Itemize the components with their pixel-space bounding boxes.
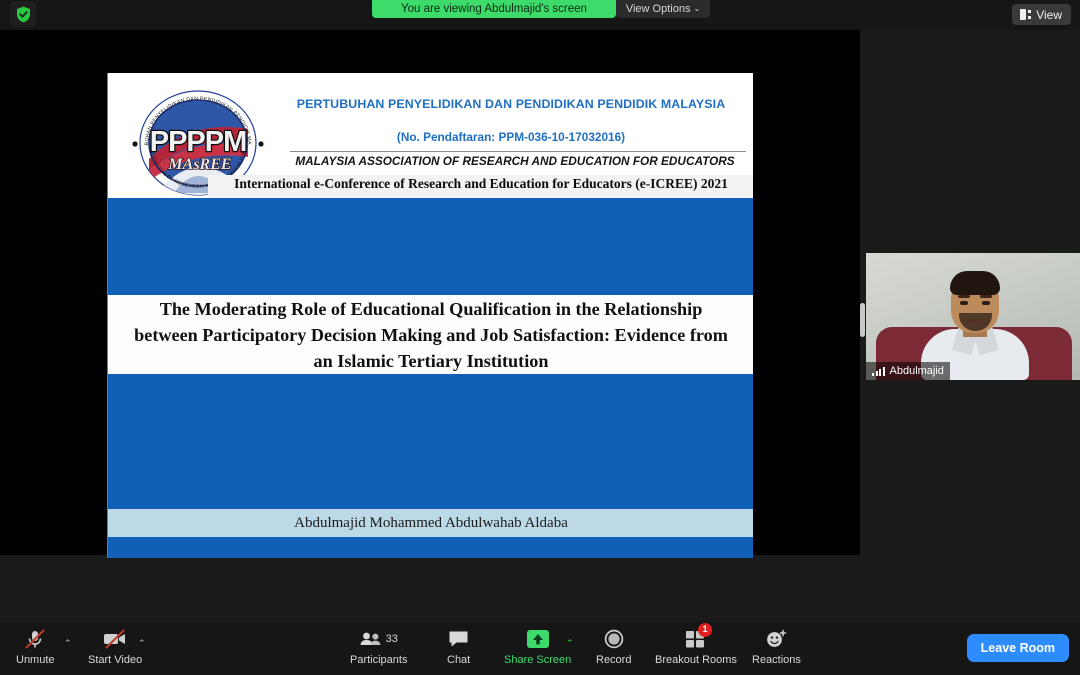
participants-label: Participants bbox=[350, 654, 407, 666]
shared-screen-area[interactable]: PERTUBUHAN PENYELIDIKAN DAN PENDIDIKAN P… bbox=[0, 30, 860, 555]
audio-options-caret-icon[interactable]: ⌃ bbox=[64, 638, 72, 649]
view-button-label: View bbox=[1036, 8, 1062, 22]
participant-name-row: Abdulmajid bbox=[866, 362, 950, 380]
reactions-smiley-icon bbox=[765, 628, 787, 650]
conference-title: International e-Conference of Research a… bbox=[208, 176, 753, 192]
unmute-button[interactable]: Unmute bbox=[16, 628, 55, 670]
slide-title-block: The Moderating Role of Educational Quali… bbox=[108, 295, 753, 374]
camera-off-icon bbox=[103, 628, 127, 650]
breakout-rooms-label: Breakout Rooms bbox=[655, 654, 737, 666]
breakout-rooms-grid-icon: 1 bbox=[685, 628, 707, 650]
chevron-down-icon: ⌄ bbox=[693, 4, 700, 13]
leave-room-button[interactable]: Leave Room bbox=[967, 634, 1069, 662]
shield-check-icon[interactable] bbox=[10, 1, 36, 27]
leave-room-label: Leave Room bbox=[981, 641, 1055, 655]
participant-video-thumbnail[interactable]: Abdulmajid bbox=[866, 253, 1080, 380]
share-screen-label: Share Screen bbox=[504, 654, 571, 666]
view-button[interactable]: View bbox=[1012, 4, 1071, 25]
record-circle-icon bbox=[604, 628, 624, 650]
chat-label: Chat bbox=[447, 654, 470, 666]
svg-text:MAsREE: MAsREE bbox=[167, 156, 231, 173]
view-options-dropdown[interactable]: View Options⌄ bbox=[616, 0, 710, 18]
layout-view-icon bbox=[1020, 9, 1031, 20]
reactions-button[interactable]: Reactions bbox=[752, 628, 801, 670]
slide-author-band: Abdulmajid Mohammed Abdulwahab Aldaba bbox=[108, 509, 753, 537]
participants-count: 33 bbox=[386, 633, 398, 645]
participants-icon: 33 bbox=[360, 628, 398, 650]
chat-bubble-icon bbox=[448, 628, 469, 650]
slide-author: Abdulmajid Mohammed Abdulwahab Aldaba bbox=[294, 515, 568, 532]
viewing-screen-banner: You are viewing Abdulmajid's screen bbox=[372, 0, 616, 18]
slide-title: The Moderating Role of Educational Quali… bbox=[131, 296, 731, 374]
start-video-button[interactable]: Start Video bbox=[88, 628, 142, 670]
record-label: Record bbox=[596, 654, 631, 666]
breakout-rooms-badge: 1 bbox=[698, 623, 712, 637]
organization-registration-number: (No. Pendaftaran: PPM-036-10-17032016) bbox=[276, 130, 746, 144]
header-divider bbox=[290, 151, 746, 152]
signal-bars-icon bbox=[872, 367, 885, 376]
viewing-screen-banner-text: You are viewing Abdulmajid's screen bbox=[401, 3, 587, 15]
start-video-label: Start Video bbox=[88, 654, 142, 666]
presentation-slide: PERTUBUHAN PENYELIDIKAN DAN PENDIDIKAN P… bbox=[107, 73, 753, 558]
organization-name-malay: PERTUBUHAN PENYELIDIKAN DAN PENDIDIKAN P… bbox=[276, 97, 746, 111]
participant-video-feed bbox=[866, 253, 1080, 380]
top-bar: You are viewing Abdulmajid's screen View… bbox=[0, 0, 1080, 30]
participant-name: Abdulmajid bbox=[890, 365, 944, 377]
microphone-muted-icon bbox=[26, 628, 44, 650]
chat-button[interactable]: Chat bbox=[447, 628, 470, 670]
svg-text:PPPPM: PPPPM bbox=[150, 126, 247, 158]
share-screen-up-arrow-icon bbox=[525, 628, 551, 650]
unmute-label: Unmute bbox=[16, 654, 55, 666]
meeting-toolbar: Unmute ⌃ Start Video ⌃ 33 Participants bbox=[0, 622, 1080, 675]
organization-name-english: MALAYSIA ASSOCIATION OF RESEARCH AND EDU… bbox=[276, 154, 753, 168]
video-panel-drag-handle[interactable] bbox=[860, 303, 865, 337]
breakout-rooms-button[interactable]: 1 Breakout Rooms bbox=[655, 628, 737, 670]
record-button[interactable]: Record bbox=[596, 628, 631, 670]
participants-button[interactable]: 33 Participants bbox=[350, 628, 407, 670]
video-options-caret-icon[interactable]: ⌃ bbox=[138, 638, 146, 649]
share-screen-options-caret-icon[interactable]: ⌃ bbox=[566, 638, 574, 649]
view-options-label: View Options bbox=[626, 3, 691, 15]
reactions-label: Reactions bbox=[752, 654, 801, 666]
slide-header: PERTUBUHAN PENYELIDIKAN DAN PENDIDIKAN P… bbox=[108, 73, 753, 198]
share-screen-button[interactable]: Share Screen bbox=[504, 628, 571, 670]
